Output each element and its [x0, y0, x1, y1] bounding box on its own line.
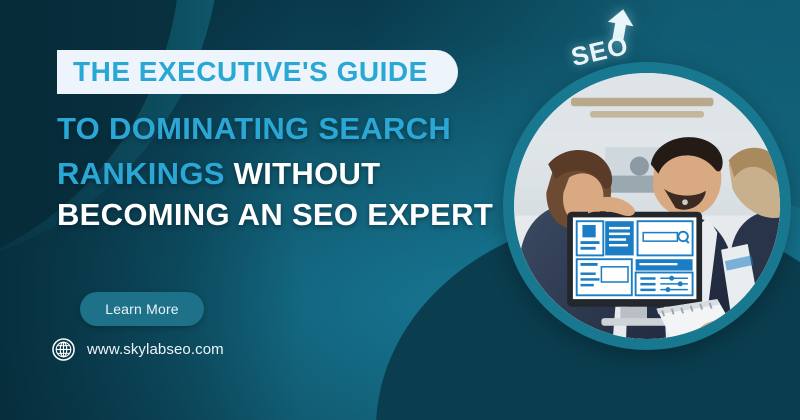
headline-line-4: BECOMING AN SEO EXPERT: [57, 199, 493, 230]
headline-line-3-highlight: RANKINGS: [57, 156, 225, 191]
headline-line-1-pill: THE EXECUTIVE'S GUIDE: [57, 50, 458, 94]
headline-line-1: THE EXECUTIVE'S GUIDE: [73, 56, 428, 88]
website-url[interactable]: www.skylabseo.com: [87, 341, 224, 358]
team-photo: [514, 73, 780, 339]
seo-badge: SEO: [565, 8, 657, 70]
up-arrow-icon: [602, 6, 638, 50]
photo-circle-frame: [503, 62, 791, 350]
globe-icon: [52, 338, 75, 361]
headline-line-2: TO DOMINATING SEARCH: [57, 113, 451, 144]
headline-line-3-rest: WITHOUT: [234, 156, 381, 191]
seo-marketing-banner: SEO: [0, 0, 800, 420]
website-row[interactable]: www.skylabseo.com: [52, 338, 224, 361]
learn-more-button[interactable]: Learn More: [80, 292, 204, 326]
headline-line-3: RANKINGS WITHOUT: [57, 158, 380, 189]
